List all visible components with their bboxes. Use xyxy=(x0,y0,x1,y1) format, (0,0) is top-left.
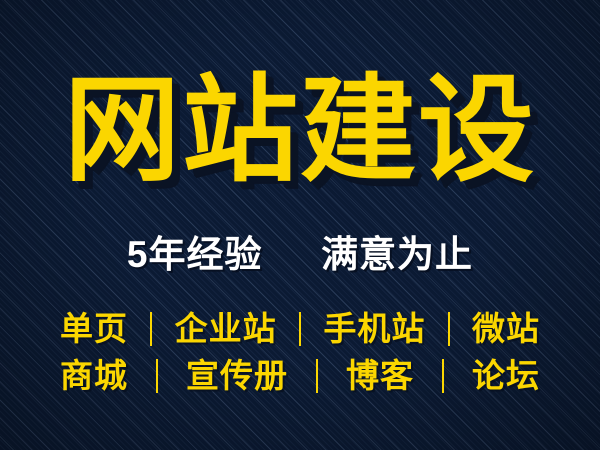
service-item-weizhan[interactable]: 微站 xyxy=(472,312,540,345)
service-row-1: 单页 企业站 手机站 微站 xyxy=(60,305,540,352)
page-title: 网站建设 xyxy=(0,72,600,188)
subtitle: 5年经验 满意为止 xyxy=(0,236,600,273)
service-item-shangcheng[interactable]: 商城 xyxy=(60,359,128,392)
service-separator xyxy=(299,312,301,346)
service-item-xuanchuance[interactable]: 宣传册 xyxy=(186,359,288,392)
subtitle-left: 5年经验 xyxy=(127,234,263,275)
service-item-shoujizhan[interactable]: 手机站 xyxy=(323,312,425,345)
service-row-2: 商城 宣传册 博客 论坛 xyxy=(60,352,540,399)
service-separator xyxy=(150,312,152,346)
service-list: 单页 企业站 手机站 微站 商城 宣传册 博客 论坛 xyxy=(60,305,540,399)
service-item-qiyezhan[interactable]: 企业站 xyxy=(175,312,277,345)
service-item-luntan[interactable]: 论坛 xyxy=(472,359,540,392)
poster-content: 网站建设 5年经验 满意为止 单页 企业站 手机站 微站 商城 宣传册 博客 xyxy=(0,0,600,450)
service-item-danye[interactable]: 单页 xyxy=(60,312,128,345)
service-separator xyxy=(156,359,158,393)
service-separator xyxy=(448,312,450,346)
subtitle-right: 满意为止 xyxy=(321,234,473,275)
service-separator xyxy=(442,359,444,393)
service-item-boke[interactable]: 博客 xyxy=(346,359,414,392)
service-separator xyxy=(316,359,318,393)
promo-poster: 网站建设 5年经验 满意为止 单页 企业站 手机站 微站 商城 宣传册 博客 xyxy=(0,0,600,450)
